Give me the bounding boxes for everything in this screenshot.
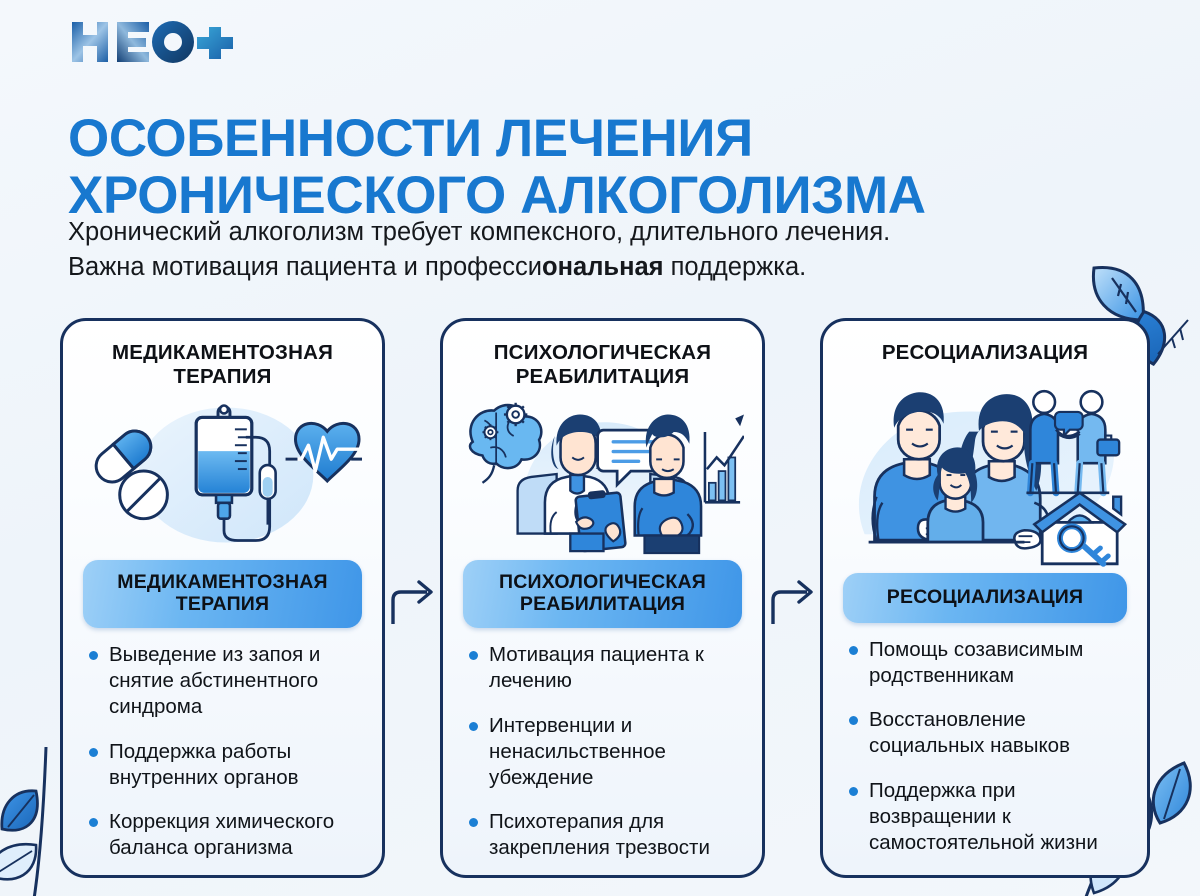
treatment-stages-row: МЕДИКАМЕНТОЗНАЯ ТЕРАПИЯ — [60, 318, 1145, 878]
card-2-heading: ПСИХОЛОГИЧЕСКАЯ РЕАБИЛИТАЦИЯ — [461, 341, 744, 391]
list-item: Восстановление социальных навыков — [847, 707, 1127, 759]
card-1-stage-label[interactable]: МЕДИКАМЕНТОЗНАЯ ТЕРАПИЯ — [83, 560, 362, 629]
page-subtitle-line-1: Хронический алкоголизм требует компексно… — [68, 215, 1128, 250]
family-handshake-home-illustration — [841, 385, 1129, 571]
list-item: Психотерапия для закрепления трезвости — [467, 809, 742, 861]
list-item: Мотивация пациента к лечению — [467, 642, 742, 694]
card-medication-therapy[interactable]: МЕДИКАМЕНТОЗНАЯ ТЕРАПИЯ — [60, 318, 385, 878]
therapy-session-illustration — [461, 393, 744, 558]
list-item: Выведение из запоя и снятие абстинентног… — [87, 642, 362, 719]
card-resocialization[interactable]: РЕСОЦИАЛИЗАЦИЯ — [820, 318, 1150, 878]
subtitle-text-pre: Важна мотивация пациента и професси — [68, 253, 542, 281]
list-item: Поддержка работы внутренних органов — [87, 739, 362, 791]
page-subtitle-line-2: Важна мотивация пациента и профессиональ… — [68, 250, 1128, 285]
list-item: Коррекция химического баланса организма — [87, 809, 362, 861]
card-psychological-rehabilitation[interactable]: ПСИХОЛОГИЧЕСКАЯ РЕАБИЛИТАЦИЯ — [440, 318, 765, 878]
arrow-right-step-icon-2 — [767, 566, 823, 626]
list-item: Интервенции и ненасильственное убеждение — [467, 713, 742, 790]
list-item: Помощь созависимым родственникам — [847, 637, 1127, 689]
leaf-pair-icon-bottom-left — [0, 741, 64, 896]
infographic-canvas: ОСОБЕННОСТИ ЛЕЧЕНИЯ ХРОНИЧЕСКОГО АЛКОГОЛ… — [0, 0, 1200, 896]
card-1-heading: МЕДИКАМЕНТОЗНАЯ ТЕРАПИЯ — [81, 341, 364, 391]
subtitle-text-post: поддержка. — [664, 253, 807, 281]
subtitle-text-bold: ональная — [542, 253, 664, 281]
list-item: Поддержка при возвращении к самостоятель… — [847, 778, 1127, 855]
card-3-stage-label[interactable]: РЕСОЦИАЛИЗАЦИЯ — [843, 573, 1127, 623]
card-1-bullet-list: Выведение из запоя и снятие абстинентног… — [81, 642, 364, 861]
card-3-bullet-list: Помощь созависимым родственникам Восстан… — [841, 637, 1129, 861]
arrow-right-step-icon-1 — [387, 566, 443, 626]
card-2-bullet-list: Мотивация пациента к лечению Интервенции… — [461, 642, 744, 861]
page-subtitle: Хронический алкоголизм требует компексно… — [68, 215, 1128, 285]
card-3-heading: РЕСОЦИАЛИЗАЦИЯ — [841, 341, 1129, 391]
page-title-line-1: ОСОБЕННОСТИ ЛЕЧЕНИЯ — [68, 109, 753, 168]
growth-chart-icon — [705, 415, 744, 503]
round-tablet-icon — [120, 471, 168, 519]
neo-plus-logo[interactable] — [68, 16, 238, 68]
card-2-stage-label[interactable]: ПСИХОЛОГИЧЕСКАЯ РЕАБИЛИТАЦИЯ — [463, 560, 742, 629]
medication-iv-drip-heart-illustration — [81, 393, 364, 558]
page-title: ОСОБЕННОСТИ ЛЕЧЕНИЯ ХРОНИЧЕСКОГО АЛКОГОЛ… — [68, 110, 1158, 226]
